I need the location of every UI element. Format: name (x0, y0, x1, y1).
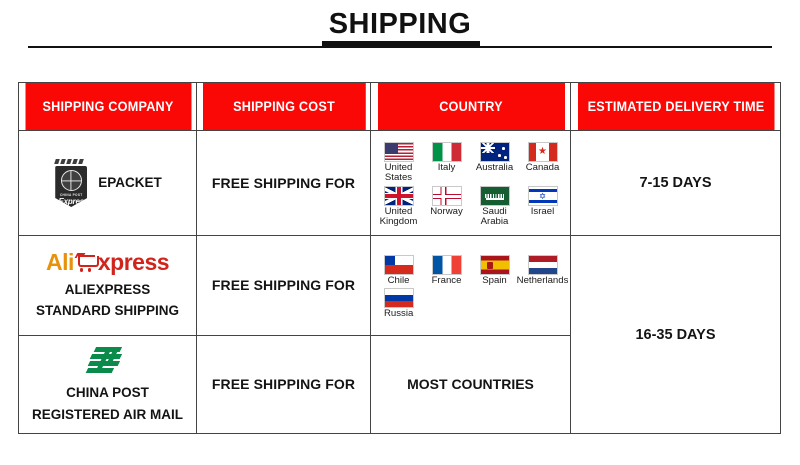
shipping-info-table: SHIPPING COMPANY SHIPPING COST COUNTRY E… (18, 82, 781, 434)
shopping-cart-icon (76, 253, 97, 272)
spain-coat-of-arms-icon (487, 262, 493, 269)
country-flag-grid: United States Italy Australia (371, 135, 570, 231)
country-item-chile: Chile (375, 255, 422, 286)
country-label: United States (375, 163, 422, 183)
country-item-united-states: United States (375, 142, 422, 183)
country-label: Chile (388, 276, 410, 286)
country-label: Canada (526, 163, 560, 173)
shipping-cost-label: FREE SHIPPING FOR (212, 175, 355, 191)
globe-icon (61, 170, 82, 191)
country-label: Netherlands (517, 276, 569, 286)
cell-cost-aliexpress: FREE SHIPPING FOR (197, 236, 371, 336)
cell-countries-epacket: United States Italy Australia (371, 131, 571, 236)
shipping-cost-label: FREE SHIPPING FOR (212, 376, 355, 392)
country-item-israel: ✡ Israel (519, 186, 566, 217)
title-divider-accent (322, 41, 480, 48)
maple-leaf-icon: ★ (538, 147, 547, 157)
table-header-row: SHIPPING COMPANY SHIPPING COST COUNTRY E… (19, 83, 781, 131)
epacket-logo-dashes (55, 159, 87, 165)
company-name-label-line2: STANDARD SHIPPING (36, 302, 179, 320)
flag-ru-icon (384, 288, 414, 308)
cell-delivery-time-16-35-days: 16-35 DAYS (571, 236, 781, 434)
flag-sa-icon (480, 186, 510, 206)
country-label: Norway (430, 207, 463, 217)
country-item-france: France (423, 255, 470, 286)
flag-no-icon (432, 186, 462, 206)
column-header-shipping-company: SHIPPING COMPANY (24, 83, 191, 131)
country-item-australia: Australia (471, 142, 518, 173)
flag-il-icon: ✡ (528, 186, 558, 206)
column-header-delivery-time: ESTIMATED DELIVERY TIME (577, 83, 774, 131)
table-row: CHINA POST Expres EPACKET FREE SHIPPING … (19, 131, 781, 236)
country-label: MOST COUNTRIES (407, 376, 534, 392)
country-label: Israel (531, 207, 554, 217)
column-header-country: COUNTRY (377, 83, 565, 131)
country-label: France (432, 276, 462, 286)
aliexpress-logo: Ali xpress (46, 251, 169, 274)
flag-ca-icon: ★ (528, 142, 558, 162)
aliexpress-logo-ali: Ali (46, 251, 74, 274)
cell-company-aliexpress: Ali xpress ALIEXPRESS STANDARD SHIPPING (19, 236, 197, 336)
company-name-label: EPACKET (98, 174, 162, 192)
epacket-logo-badge: CHINA POST Expres (55, 166, 87, 207)
company-name-label-line2: REGISTERED AIR MAIL (32, 406, 183, 424)
page-header: SHIPPING (0, 0, 800, 70)
flag-fr-icon (432, 255, 462, 275)
country-item-spain: Spain (471, 255, 518, 286)
cell-company-epacket: CHINA POST Expres EPACKET (19, 131, 197, 236)
country-item-saudi-arabia: Saudi Arabia (471, 186, 518, 227)
cell-company-china-post: CHINA POST REGISTERED AIR MAIL (19, 336, 197, 434)
shipping-cost-label: FREE SHIPPING FOR (212, 277, 355, 293)
country-item-united-kingdom: United Kingdom (375, 186, 422, 227)
country-item-russia: Russia (375, 288, 566, 319)
page-title: SHIPPING (0, 8, 800, 41)
aliexpress-logo-xpress: xpress (98, 251, 169, 274)
flag-nl-icon (528, 255, 558, 275)
country-label: Saudi Arabia (471, 207, 518, 227)
country-label: United Kingdom (375, 207, 422, 227)
cell-countries-aliexpress: Chile France Spain Netherlan (371, 236, 571, 336)
cell-cost-china-post: FREE SHIPPING FOR (197, 336, 371, 434)
column-header-shipping-cost: SHIPPING COST (202, 83, 366, 131)
flag-es-icon (480, 255, 510, 275)
epacket-logo: CHINA POST Expres (53, 159, 89, 207)
flag-gb-icon (384, 186, 414, 206)
country-label: Australia (476, 163, 513, 173)
country-item-canada: ★ Canada (519, 142, 566, 173)
epacket-logo-wordmark: Expres (58, 197, 83, 206)
country-label: Italy (438, 163, 456, 173)
cell-countries-china-post: MOST COUNTRIES (371, 336, 571, 434)
flag-us-icon (384, 142, 414, 162)
company-name-label-line1: ALIEXPRESS (65, 281, 151, 299)
flag-au-icon (480, 142, 510, 162)
delivery-time-label: 16-35 DAYS (635, 327, 715, 343)
country-item-italy: Italy (423, 142, 470, 173)
flag-cl-icon (384, 255, 414, 275)
country-label: Russia (384, 309, 413, 319)
cell-cost-epacket: FREE SHIPPING FOR (197, 131, 371, 236)
country-label: Spain (482, 276, 507, 286)
flag-it-icon (432, 142, 462, 162)
company-name-label-line1: CHINA POST (66, 384, 149, 402)
delivery-time-label: 7-15 DAYS (639, 175, 711, 191)
china-post-logo (87, 345, 129, 377)
cell-delivery-time-epacket: 7-15 DAYS (571, 131, 781, 236)
country-flag-grid: Chile France Spain Netherlan (371, 248, 570, 323)
table-row: Ali xpress ALIEXPRESS STANDARD SHIPPING … (19, 236, 781, 336)
star-of-david-icon: ✡ (539, 191, 546, 200)
country-item-norway: Norway (423, 186, 470, 217)
country-item-netherlands: Netherlands (519, 255, 566, 286)
